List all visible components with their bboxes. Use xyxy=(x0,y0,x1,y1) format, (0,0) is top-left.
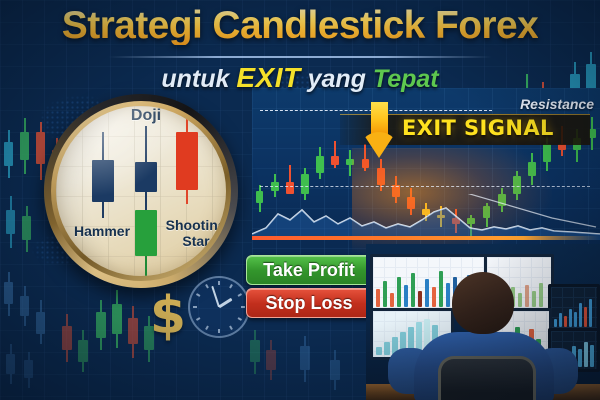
vignette-overlay xyxy=(0,0,600,400)
forex-strategy-poster: Resistance EXIT SIGNAL Strategi Candlest… xyxy=(0,0,600,400)
